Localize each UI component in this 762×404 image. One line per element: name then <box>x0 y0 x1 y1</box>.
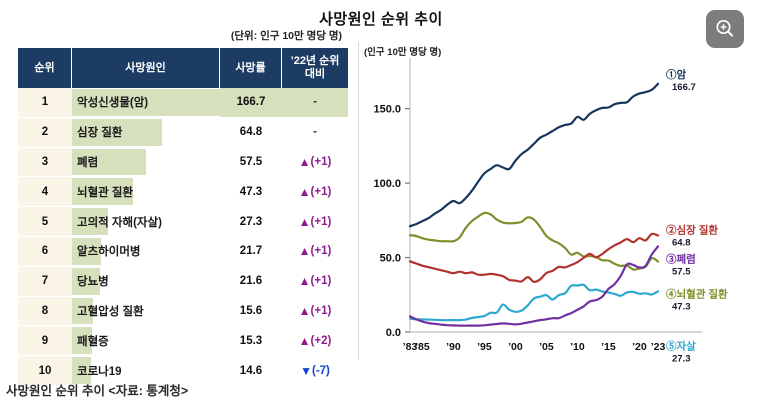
cell-rank: 3 <box>18 148 72 178</box>
series-label: ①암 <box>666 68 686 81</box>
series-line <box>410 285 658 321</box>
col-header-change-line1: ’22년 순위 <box>291 55 340 67</box>
arrow-up-icon: ▲ <box>299 215 311 229</box>
cell-rank-change: ▲(+1) <box>282 297 348 327</box>
table-row: 7당뇨병21.6▲(+1) <box>18 267 348 297</box>
col-header-cause: 사망원인 <box>72 48 220 88</box>
series-end-value: 166.7 <box>672 82 696 93</box>
arrow-up-icon: ▲ <box>299 274 311 288</box>
figure-caption: 사망원인 순위 추이 <자료: 통계청> <box>6 380 188 399</box>
zoom-in-icon <box>714 18 736 40</box>
arrow-up-icon: ▲ <box>299 155 311 169</box>
table-row: 3폐렴57.5▲(+1) <box>18 148 348 178</box>
cell-cause: 악성신생물(암) <box>72 88 220 118</box>
table-row: 5고의적 자해(자살)27.3▲(+1) <box>18 207 348 237</box>
cause-label: 고혈압성 질환 <box>72 303 220 319</box>
series-end-value: 27.3 <box>672 353 691 364</box>
x-tick-label: ’90 <box>446 341 461 353</box>
cause-label: 심장 질환 <box>72 124 220 140</box>
series-end-value: 57.5 <box>672 266 691 277</box>
cell-cause: 패혈증 <box>72 326 220 356</box>
table-row: 8고혈압성 질환15.6▲(+1) <box>18 297 348 327</box>
cause-label: 당뇨병 <box>72 273 220 289</box>
cause-label: 알츠하이머병 <box>72 243 220 259</box>
rank-change-value: (+1) <box>311 305 332 317</box>
cell-rank-change: ▲(+1) <box>282 237 348 267</box>
table-unit-note: (단위: 인구 10만 명당 명) <box>231 28 342 43</box>
cell-cause: 심장 질환 <box>72 118 220 148</box>
y-tick-label: 50.0 <box>380 253 401 265</box>
cause-label: 패혈증 <box>72 333 220 349</box>
table-row: 4뇌혈관 질환47.3▲(+1) <box>18 177 348 207</box>
cell-rate: 64.8 <box>220 118 282 148</box>
col-header-change-line2: 대비 <box>305 68 325 80</box>
cell-rank: 4 <box>18 177 72 207</box>
cell-rate: 166.7 <box>220 88 282 118</box>
x-tick-label: ’15 <box>601 341 616 353</box>
chart-svg: 0.050.0100.0150.0’83’85’90’95’00’05’10’1… <box>358 42 762 372</box>
y-tick-label: 150.0 <box>373 104 401 116</box>
trend-chart: (인구 10만 명당 명) 0.050.0100.0150.0’83’85’90… <box>358 42 762 372</box>
x-tick-label: ’00 <box>508 341 523 353</box>
cell-rank-change: - <box>282 118 348 148</box>
cell-rank: 1 <box>18 88 72 118</box>
cause-label: 고의적 자해(자살) <box>72 214 220 230</box>
arrow-down-icon: ▼ <box>300 364 312 378</box>
cell-rate: 15.6 <box>220 297 282 327</box>
arrow-up-icon: ▲ <box>299 244 311 258</box>
series-end-value: 47.3 <box>672 302 691 313</box>
cell-rank: 2 <box>18 118 72 148</box>
table-header-row: 순위 사망원인 사망률 ’22년 순위 대비 <box>18 48 348 88</box>
cell-rank: 7 <box>18 267 72 297</box>
table-panel: (단위: 인구 10만 명당 명) 순위 사망원인 사망률 ’22년 순위 대비… <box>0 0 352 375</box>
x-tick-label: ’95 <box>477 341 492 353</box>
cell-rank: 8 <box>18 297 72 327</box>
rank-change-value: (-7) <box>312 365 330 377</box>
series-label: ⑤자살 <box>666 339 696 352</box>
cell-rank-change: ▼(-7) <box>282 356 348 386</box>
x-tick-label: ’10 <box>570 341 585 353</box>
cell-rank: 5 <box>18 207 72 237</box>
rank-change-value: (+1) <box>311 186 332 198</box>
series-line <box>410 84 658 227</box>
cell-cause: 고의적 자해(자살) <box>72 207 220 237</box>
cause-label: 뇌혈관 질환 <box>72 184 220 200</box>
y-tick-label: 100.0 <box>373 178 401 190</box>
y-tick-label: 0.0 <box>386 327 401 339</box>
rank-change-value: - <box>313 126 317 138</box>
cell-rate: 21.6 <box>220 267 282 297</box>
x-tick-label: ’05 <box>539 341 554 353</box>
cell-rank-change: ▲(+1) <box>282 267 348 297</box>
cell-rank-change: - <box>282 88 348 118</box>
series-label: ③폐렴 <box>666 252 696 265</box>
rank-change-value: (+1) <box>311 245 332 257</box>
table-body: 1악성신생물(암)166.7-2심장 질환64.8-3폐렴57.5▲(+1)4뇌… <box>18 88 348 386</box>
rank-change-value: - <box>313 96 317 108</box>
table-row: 9패혈증15.3▲(+2) <box>18 326 348 356</box>
cell-rank-change: ▲(+1) <box>282 207 348 237</box>
cell-cause: 고혈압성 질환 <box>72 297 220 327</box>
table-row: 1악성신생물(암)166.7- <box>18 88 348 118</box>
series-label: ④뇌혈관 질환 <box>666 288 728 301</box>
series-line <box>410 246 658 325</box>
arrow-up-icon: ▲ <box>299 304 311 318</box>
cell-rate: 47.3 <box>220 177 282 207</box>
cell-rank: 9 <box>18 326 72 356</box>
cell-rank: 6 <box>18 237 72 267</box>
cause-of-death-table: 순위 사망원인 사망률 ’22년 순위 대비 1악성신생물(암)166.7-2심… <box>18 48 348 386</box>
rank-change-value: (+2) <box>311 335 332 347</box>
cell-rate: 15.3 <box>220 326 282 356</box>
col-header-change: ’22년 순위 대비 <box>282 48 348 88</box>
series-label: ②심장 질환 <box>666 224 718 237</box>
cell-rate: 14.6 <box>220 356 282 386</box>
x-tick-label: ’23 <box>651 341 666 353</box>
arrow-up-icon: ▲ <box>299 185 311 199</box>
table-row: 6알츠하이머병21.7▲(+1) <box>18 237 348 267</box>
cell-cause: 뇌혈관 질환 <box>72 177 220 207</box>
rank-change-value: (+1) <box>311 156 332 168</box>
rank-change-value: (+1) <box>311 216 332 228</box>
cell-rate: 21.7 <box>220 237 282 267</box>
arrow-up-icon: ▲ <box>299 334 311 348</box>
cause-label: 코로나19 <box>72 363 220 379</box>
col-header-rank: 순위 <box>18 48 72 88</box>
screenshot-root: 사망원인 순위 추이 (단위: 인구 10만 명당 명) 순위 사망원인 사망률 <box>0 0 762 404</box>
cell-rate: 27.3 <box>220 207 282 237</box>
cause-label: 악성신생물(암) <box>72 94 220 110</box>
cause-label: 폐렴 <box>72 154 220 170</box>
col-header-rate: 사망률 <box>220 48 282 88</box>
cell-cause: 당뇨병 <box>72 267 220 297</box>
cell-rank-change: ▲(+1) <box>282 148 348 178</box>
rank-change-value: (+1) <box>311 275 332 287</box>
cell-rank-change: ▲(+1) <box>282 177 348 207</box>
cell-cause: 알츠하이머병 <box>72 237 220 267</box>
x-tick-label: ’85 <box>415 341 430 353</box>
table-row: 2심장 질환64.8- <box>18 118 348 148</box>
cell-rank-change: ▲(+2) <box>282 326 348 356</box>
cell-cause: 폐렴 <box>72 148 220 178</box>
series-end-value: 64.8 <box>672 238 691 249</box>
cell-rate: 57.5 <box>220 148 282 178</box>
x-tick-label: ’20 <box>632 341 647 353</box>
